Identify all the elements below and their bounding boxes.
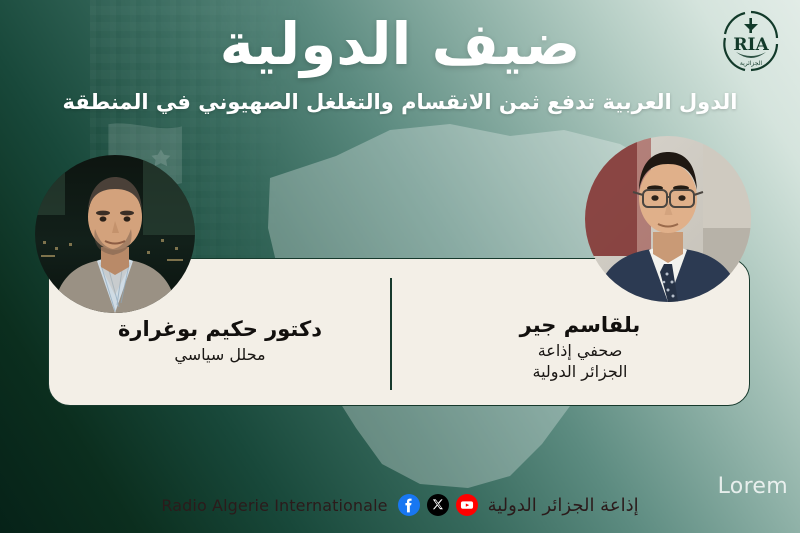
card-divider <box>390 278 392 390</box>
x-twitter-icon[interactable] <box>427 494 449 516</box>
guest-name-left: دكتور حكيم بوغرارة <box>60 316 380 342</box>
guest-role-right-line2: الجزائر الدولية <box>420 362 740 383</box>
youtube-icon[interactable] <box>456 494 478 516</box>
guest-role-left: محلل سياسي <box>60 345 380 366</box>
avatar-guest-right <box>585 136 751 302</box>
guest-photo-hakim-bougharara <box>35 155 195 313</box>
guest-info-right: بلقاسم جير صحفي إذاعة الجزائر الدولية <box>420 312 740 383</box>
footer-bar: Radio Algerie Internationale <box>0 489 800 521</box>
page-subtitle: الدول العربية تدفع ثمن الانقسام والتغلغل… <box>0 90 800 114</box>
broadcast-graphic: RIA الجزائرية ضيف الدولية الدول العربية … <box>0 0 800 533</box>
guest-name-right: بلقاسم جير <box>420 312 740 338</box>
footer-arabic-label: إذاعة الجزائر الدولية <box>488 495 639 516</box>
social-links <box>398 494 478 516</box>
avatar-guest-left <box>35 155 195 313</box>
facebook-icon[interactable] <box>398 494 420 516</box>
page-title: ضيف الدولية <box>0 14 800 75</box>
guest-role-right-line1: صحفي إذاعة <box>420 341 740 362</box>
guest-info-left: دكتور حكيم بوغرارة محلل سياسي <box>60 316 380 366</box>
guest-photo-belkacem-jir <box>585 136 751 302</box>
footer-latin-label: Radio Algerie Internationale <box>161 496 387 515</box>
